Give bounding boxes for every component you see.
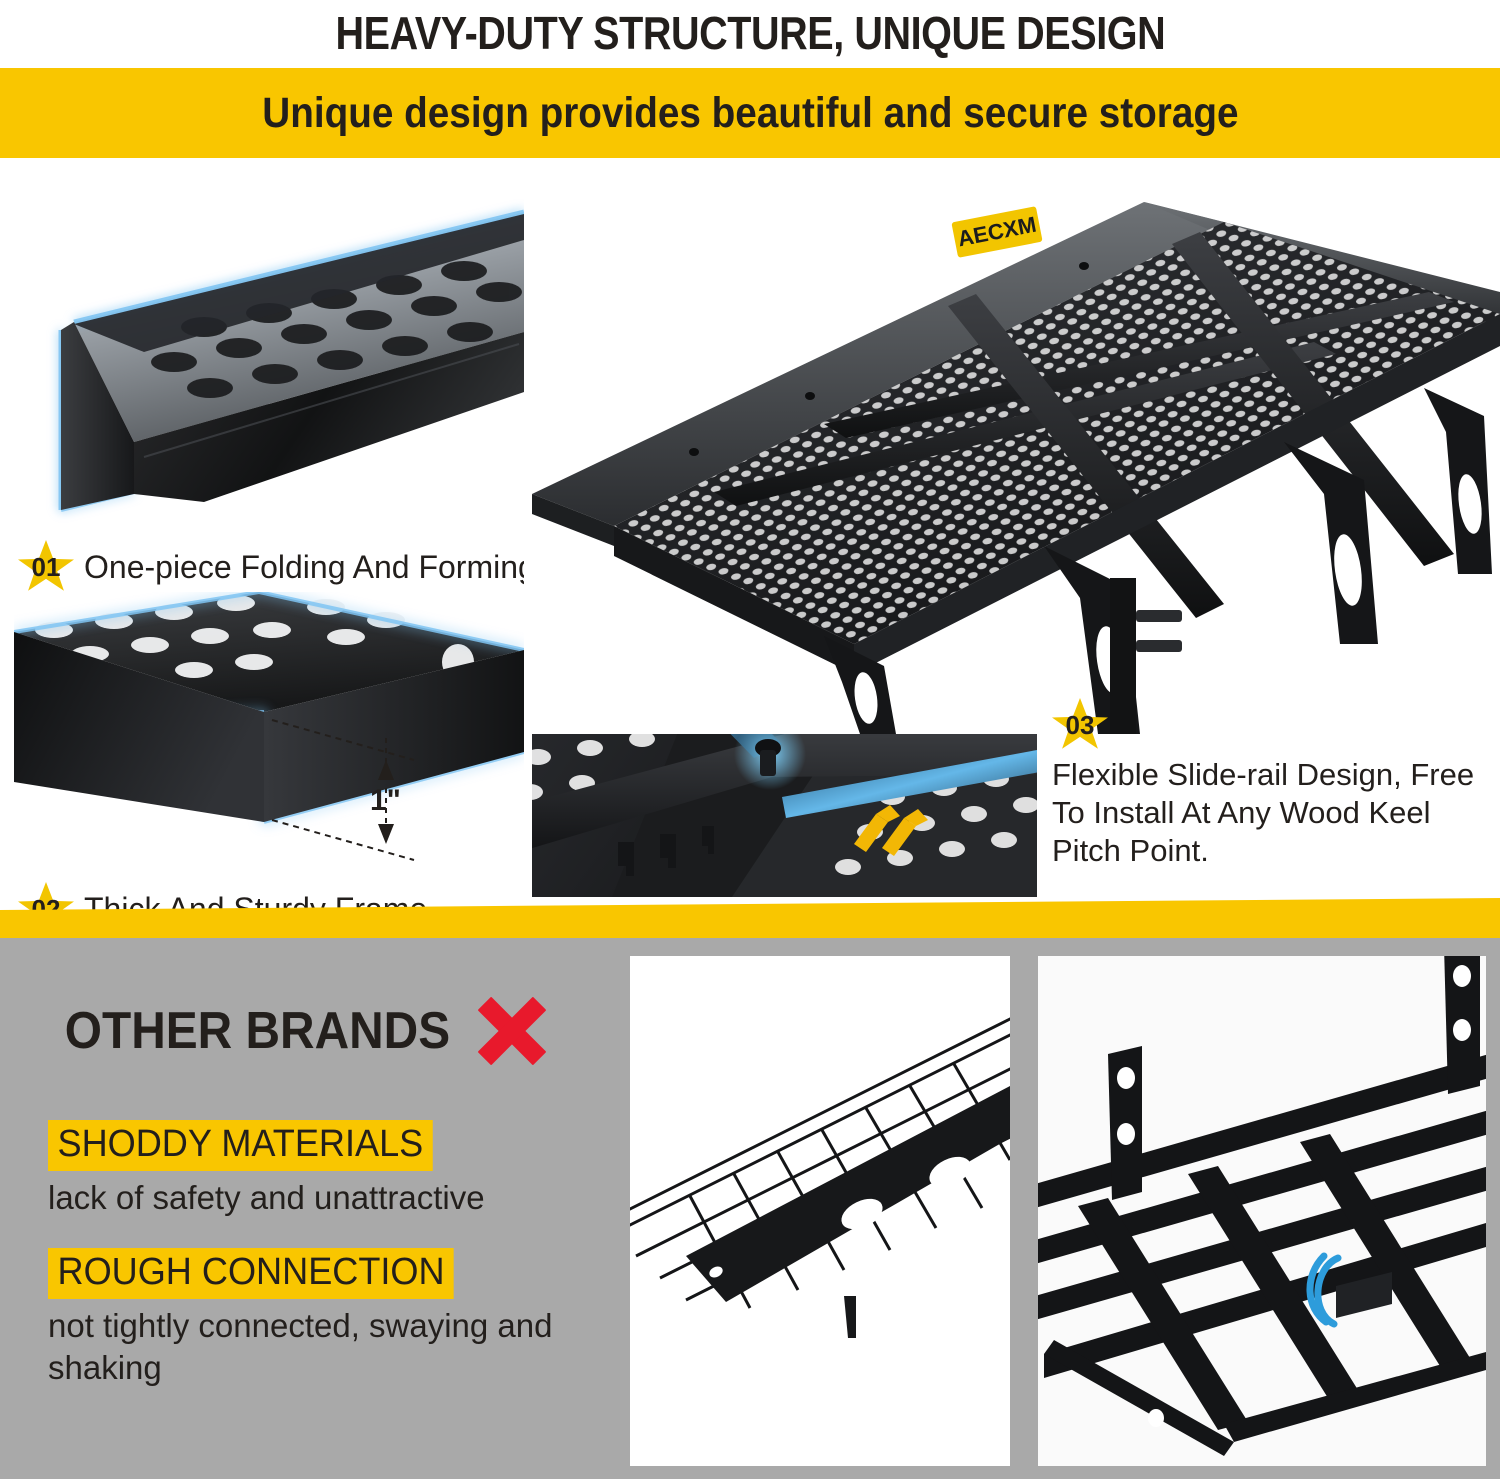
dimension-label: 1" bbox=[370, 784, 401, 817]
flat-bar-rack-photo bbox=[1038, 956, 1486, 1466]
con-item: ROUGH CONNECTION not tightly connected, … bbox=[48, 1248, 588, 1389]
callout-line-2: To Install At Any Wood Keel bbox=[1052, 794, 1492, 832]
infographic-page: HEAVY-DUTY STRUCTURE, UNIQUE DESIGN Uniq… bbox=[0, 0, 1500, 1479]
feature-number-03: 03 bbox=[1052, 710, 1108, 741]
star-badge-icon: 03 bbox=[1052, 698, 1108, 752]
other-brands-title-text: OTHER BRANDS bbox=[65, 1001, 450, 1061]
comparison-section: OTHER BRANDS SHODDY MATERIALS lack of sa… bbox=[0, 938, 1500, 1479]
wire-mesh-rack-photo bbox=[630, 956, 1010, 1466]
star-badge-icon: 01 bbox=[18, 540, 74, 594]
other-brands-heading: OTHER BRANDS bbox=[48, 1000, 543, 1062]
con-description: lack of safety and unattractive bbox=[48, 1177, 588, 1219]
feature-caption-01: 01 One-piece Folding And Forming bbox=[18, 540, 536, 594]
con-headline: SHODDY MATERIALS bbox=[48, 1120, 433, 1171]
feature-caption-text-01: One-piece Folding And Forming bbox=[84, 549, 536, 586]
callout-line-1: Flexible Slide-rail Design, Free bbox=[1052, 756, 1492, 794]
feature-section: 01 One-piece Folding And Forming bbox=[0, 160, 1500, 935]
con-item: SHODDY MATERIALS lack of safety and unat… bbox=[48, 1120, 588, 1219]
subtitle-band: Unique design provides beautiful and sec… bbox=[0, 68, 1500, 158]
page-title: HEAVY-DUTY STRUCTURE, UNIQUE DESIGN bbox=[0, 0, 1500, 66]
folded-channel-photo bbox=[14, 192, 524, 532]
thick-frame-photo: 1" bbox=[14, 592, 524, 892]
feature-caption-03: 03 Flexible Slide-rail Design, Free To I… bbox=[1052, 698, 1492, 869]
page-title-text: HEAVY-DUTY STRUCTURE, UNIQUE DESIGN bbox=[335, 6, 1165, 60]
x-mark-icon bbox=[481, 1000, 543, 1062]
hero-product-photo: AECXM bbox=[524, 174, 1500, 734]
feature-number-01: 01 bbox=[18, 552, 74, 583]
con-description: not tightly connected, swaying and shaki… bbox=[48, 1305, 588, 1389]
con-headline: ROUGH CONNECTION bbox=[48, 1248, 454, 1299]
feature-caption-lines-03: Flexible Slide-rail Design, Free To Inst… bbox=[1052, 756, 1492, 869]
page-subtitle-text: Unique design provides beautiful and sec… bbox=[262, 89, 1238, 138]
callout-line-3: Pitch Point. bbox=[1052, 832, 1492, 870]
